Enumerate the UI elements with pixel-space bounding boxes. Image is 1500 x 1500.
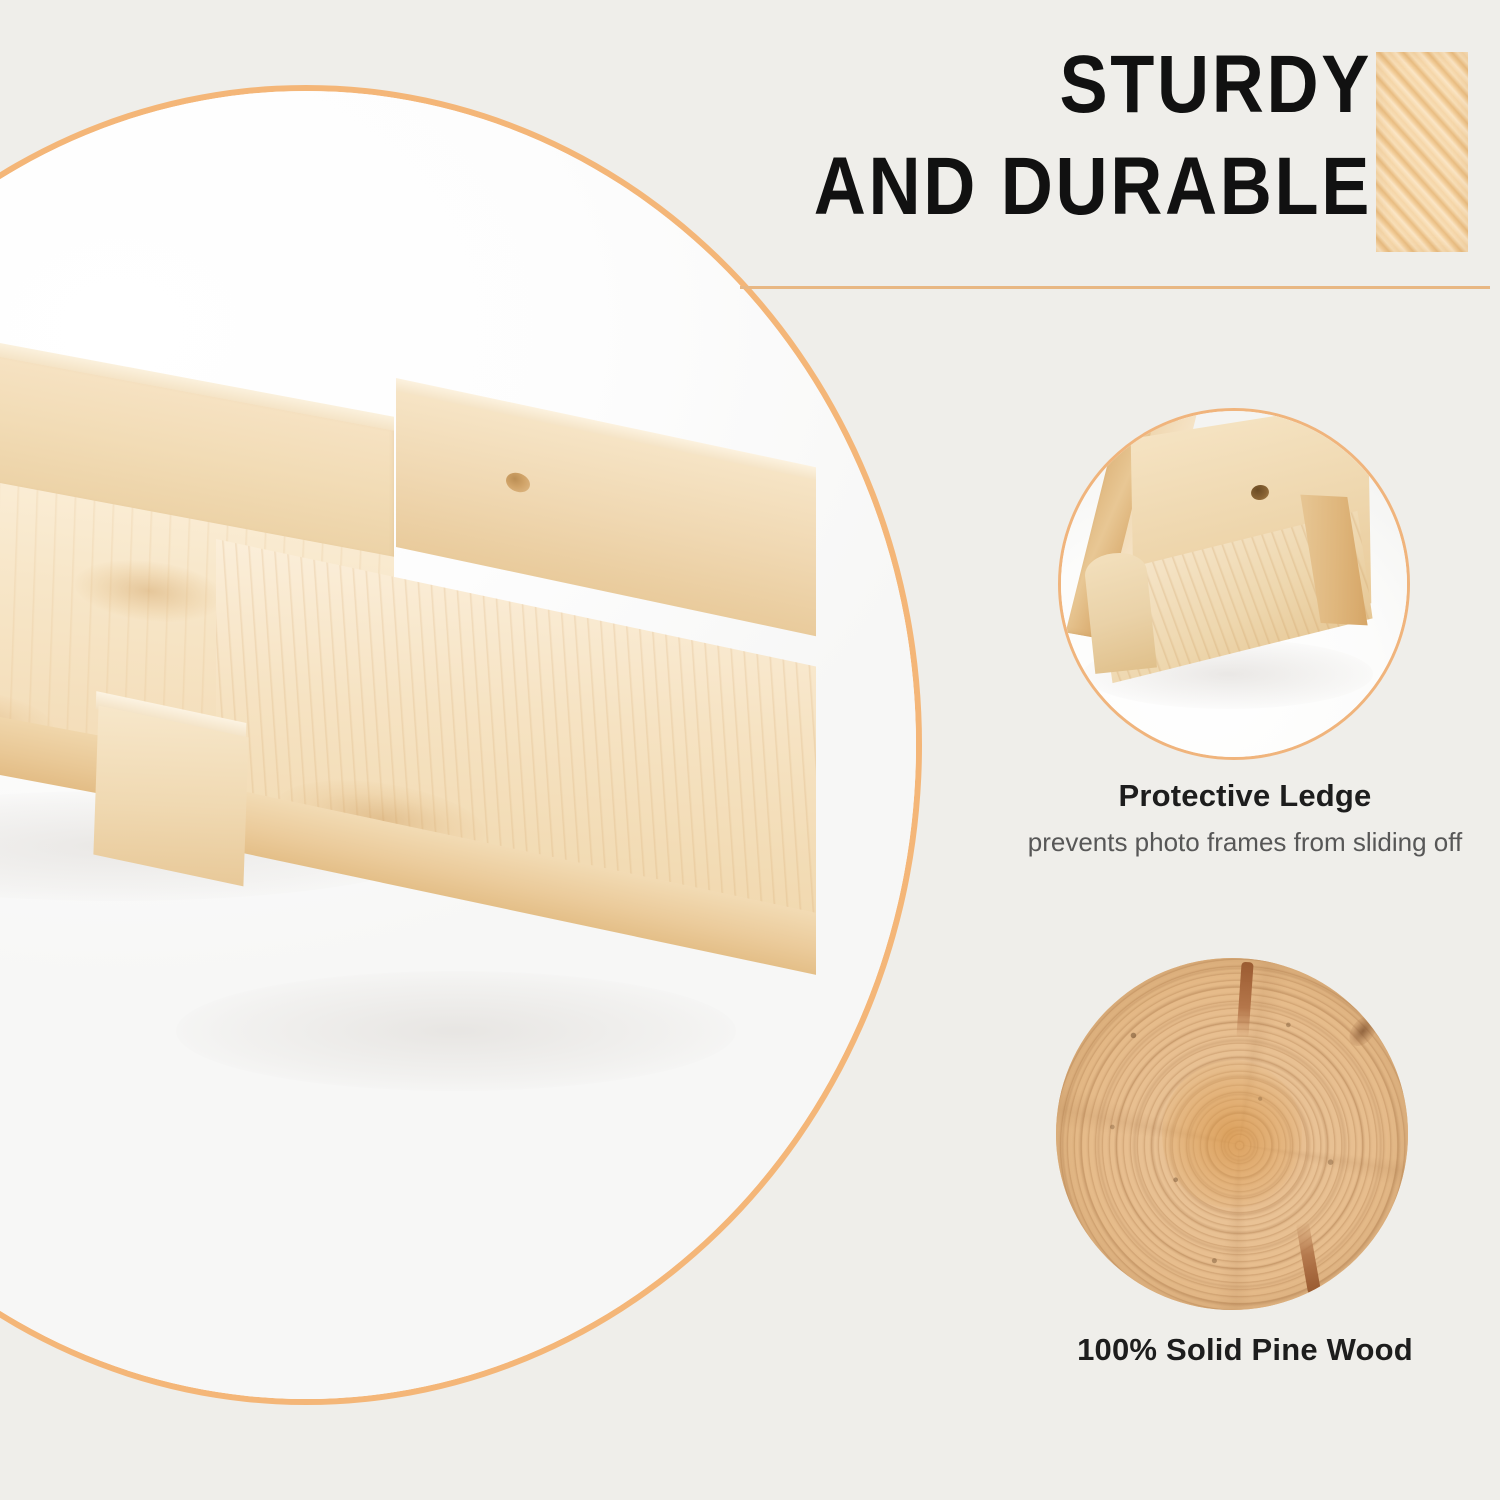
- header: STURDY AND DURABLE: [700, 34, 1490, 274]
- feature-shelf-protective-ledge: [1083, 550, 1157, 674]
- feature-photo-backdrop: [1058, 408, 1410, 760]
- log-edge-shading: [1056, 958, 1408, 1310]
- feature-image-solid-pine-wood: [1056, 958, 1408, 1310]
- shelf-protective-ledge: [93, 706, 248, 887]
- hero-product-circle: [0, 85, 922, 1405]
- header-divider: [740, 286, 1490, 289]
- feature-description: prevents photo frames from sliding off: [1000, 824, 1490, 860]
- feature-image-protective-ledge: [1058, 408, 1410, 760]
- pine-shelf-right: [396, 391, 922, 1011]
- feature-title: 100% Solid Pine Wood: [1000, 1332, 1490, 1368]
- headline-line-1: STURDY: [791, 34, 1372, 136]
- feature-caption-protective-ledge: Protective Ledge prevents photo frames f…: [1000, 778, 1490, 860]
- feature-title: Protective Ledge: [1000, 778, 1490, 814]
- headline-line-2: AND DURABLE: [791, 136, 1372, 238]
- feature-caption-solid-pine-wood: 100% Solid Pine Wood: [1000, 1332, 1490, 1378]
- page-title: STURDY AND DURABLE: [712, 34, 1372, 238]
- product-feature-poster: STURDY AND DURABLE Protective Ledge prev…: [0, 0, 1500, 1500]
- wood-grain-swatch-icon: [1376, 52, 1468, 252]
